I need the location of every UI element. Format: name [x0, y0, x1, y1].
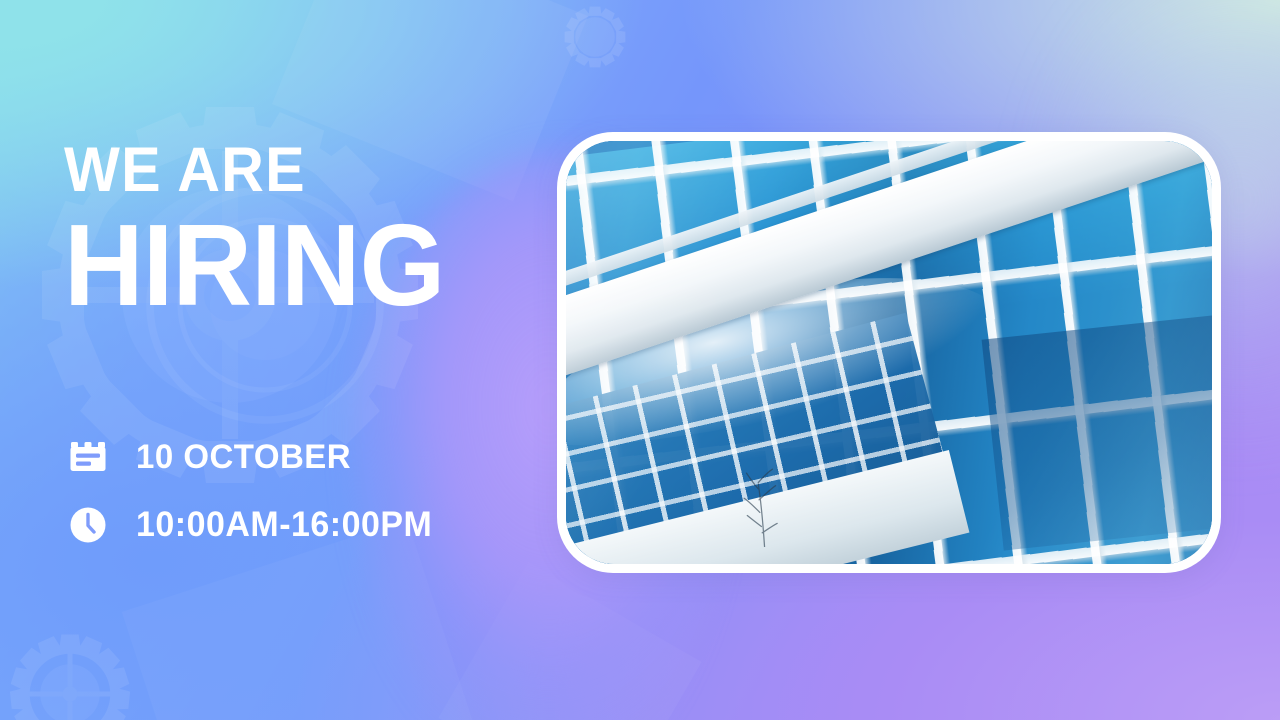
dark-glass-block [982, 316, 1212, 551]
building-photo [566, 141, 1212, 564]
calendar-icon [66, 435, 110, 479]
photo-frame [557, 132, 1221, 573]
hiring-poster: WE ARE HIRING 10 OCTOBER [0, 0, 1280, 720]
kicker-text: WE ARE [64, 140, 553, 200]
detail-row-date: 10 OCTOBER [66, 428, 442, 486]
clock-icon [66, 503, 110, 547]
background-facet-3 [438, 562, 701, 720]
page-title: HIRING [64, 212, 558, 319]
detail-row-time: 10:00AM-16:00PM [66, 496, 442, 554]
event-details: 10 OCTOBER 10:00AM-16:00PM [66, 428, 442, 554]
gear-watermark-bottom-left-icon [8, 632, 132, 720]
headline-block: WE ARE HIRING [64, 140, 584, 319]
event-date-text: 10 OCTOBER [136, 438, 351, 477]
event-time-text: 10:00AM-16:00PM [136, 505, 432, 545]
plant-silhouette [708, 437, 824, 547]
gear-watermark-top-icon [562, 4, 628, 70]
